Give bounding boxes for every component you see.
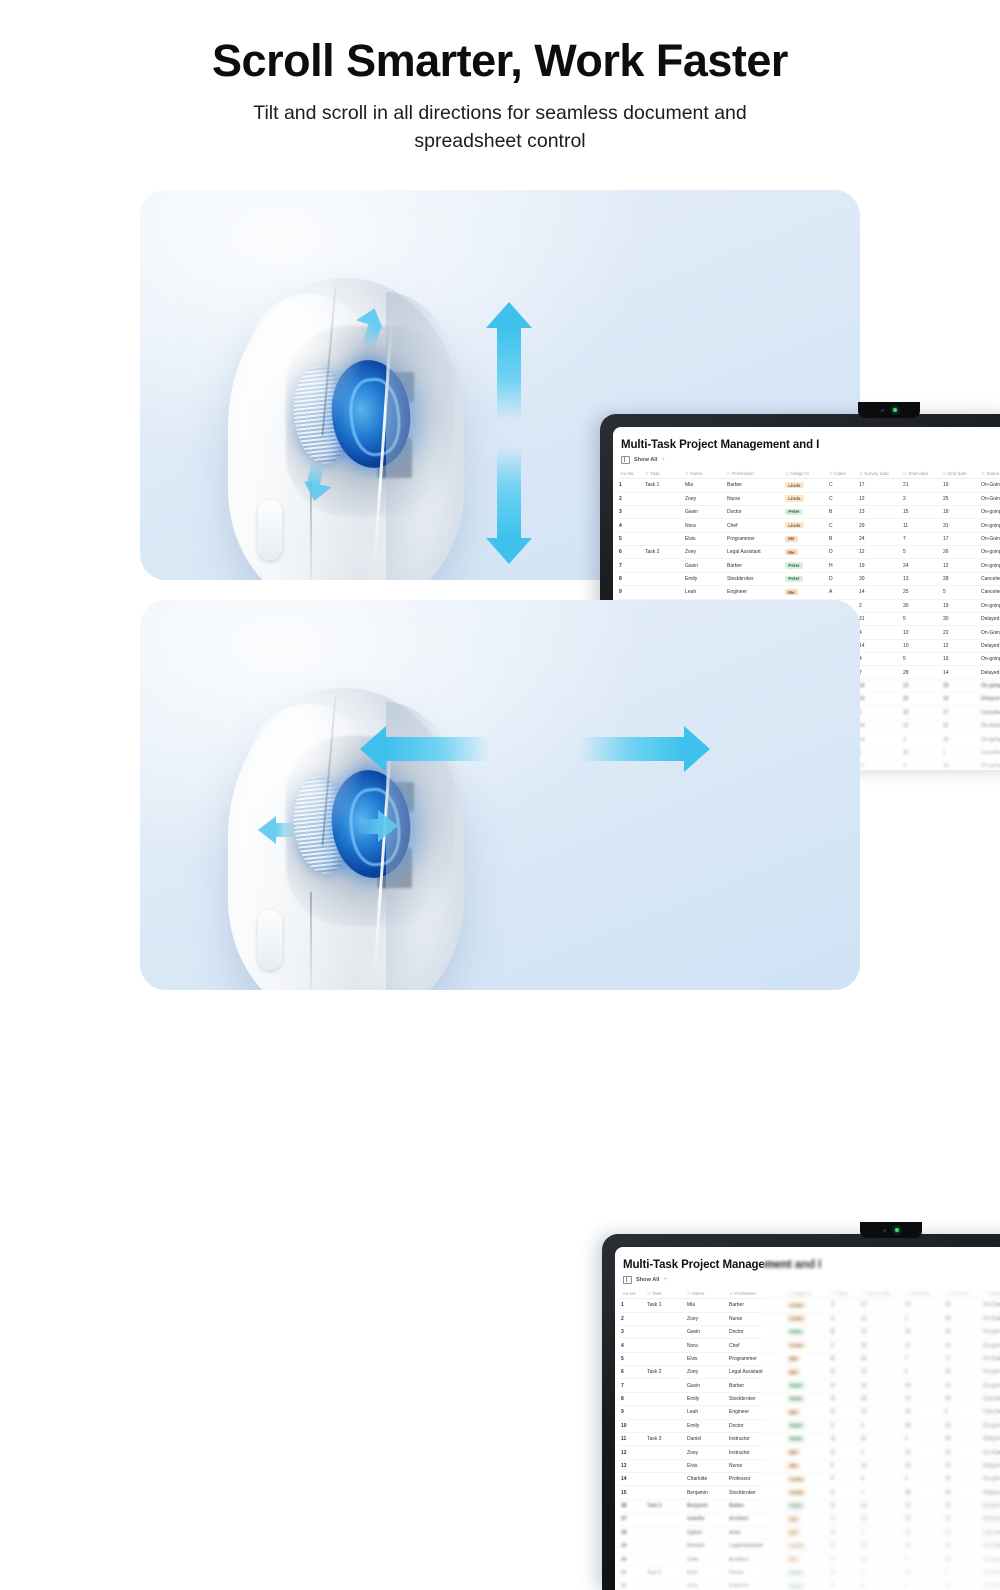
table-cell[interactable]: 12 xyxy=(859,1366,903,1379)
column-header[interactable]: ◎Assign to xyxy=(785,1288,829,1299)
table-cell[interactable]: Leah xyxy=(685,1406,727,1419)
table-cell[interactable] xyxy=(645,1325,685,1338)
add-view-button[interactable]: + xyxy=(663,1277,667,1283)
table-cell[interactable]: Delayed xyxy=(979,693,1000,706)
table-cell[interactable]: Canceled xyxy=(979,706,1000,719)
table-cell[interactable]: 31 xyxy=(943,1339,981,1352)
table-cell[interactable]: 17 xyxy=(619,1513,645,1526)
table-cell[interactable]: 13 xyxy=(857,505,901,518)
table-cell[interactable]: On-Going xyxy=(979,479,1000,492)
table-cell[interactable]: 14 xyxy=(859,1459,903,1472)
column-header[interactable]: ☷Class xyxy=(827,468,857,479)
table-cell[interactable]: 30 xyxy=(901,599,941,612)
table-cell[interactable]: 11 xyxy=(859,1580,903,1590)
table-cell[interactable]: On-going xyxy=(979,599,1000,612)
table-cell[interactable] xyxy=(645,1312,685,1325)
table-cell[interactable] xyxy=(645,1419,685,1432)
table-cell[interactable]: Delayed xyxy=(981,1513,1000,1526)
table-cell[interactable]: Peter xyxy=(785,1419,829,1432)
table-cell[interactable]: 30 xyxy=(903,1419,943,1432)
table-row[interactable]: 9LeahEngineerMeA14255Canceled24 xyxy=(619,1406,1000,1419)
table-cell[interactable]: 16 xyxy=(857,719,901,732)
table-cell[interactable]: 3 xyxy=(619,1325,645,1338)
table-cell[interactable]: 19 xyxy=(943,1419,981,1432)
table-cell[interactable]: 31 xyxy=(857,612,901,625)
table-cell[interactable]: 16 xyxy=(859,1499,903,1512)
table-cell[interactable]: 14 xyxy=(619,1473,645,1486)
column-header[interactable]: ☷Task xyxy=(643,468,683,479)
table-cell[interactable] xyxy=(645,1459,685,1472)
table-cell[interactable]: Linda xyxy=(785,1539,829,1552)
table-cell[interactable]: Peter xyxy=(785,1432,829,1445)
table-cell[interactable]: 8 xyxy=(619,1392,645,1405)
table-cell[interactable]: Architect xyxy=(727,1513,785,1526)
table-cell[interactable]: 12 xyxy=(901,719,941,732)
show-all-button[interactable]: Show All xyxy=(636,1277,659,1283)
table-cell[interactable]: 24 xyxy=(903,1379,943,1392)
table-cell[interactable]: Zoey xyxy=(685,1446,727,1459)
table-cell[interactable]: C xyxy=(827,492,857,505)
table-cell[interactable]: 28 xyxy=(903,1486,943,1499)
table-cell[interactable]: Me xyxy=(785,1406,829,1419)
table-cell[interactable]: 11 xyxy=(903,1339,943,1352)
column-header[interactable]: ☷Profession xyxy=(727,1288,785,1299)
table-cell[interactable]: 16 xyxy=(943,1513,981,1526)
table-cell[interactable]: 29 xyxy=(857,519,901,532)
table-cell[interactable]: 2 xyxy=(903,1312,943,1325)
table-cell[interactable]: On-going xyxy=(981,1499,1000,1512)
table-cell[interactable]: D xyxy=(829,1446,859,1459)
table-cell[interactable]: 5 xyxy=(903,1366,943,1379)
table-cell[interactable]: 10 xyxy=(619,1419,645,1432)
table-cell[interactable]: Zoey xyxy=(685,1366,727,1379)
table-cell[interactable]: Elvis xyxy=(685,1459,727,1472)
table-cell[interactable]: Me xyxy=(783,586,827,599)
table-cell[interactable]: 12 xyxy=(941,559,979,572)
table-cell[interactable]: On-going xyxy=(981,1325,1000,1338)
table-cell[interactable]: On-Going xyxy=(981,1539,1000,1552)
table-cell[interactable]: B xyxy=(827,532,857,545)
table-row[interactable]: 4NoraChefLindaC291131On-going9 xyxy=(619,1339,1000,1352)
table-cell[interactable]: 2 xyxy=(857,599,901,612)
table-cell[interactable]: 7 xyxy=(619,1379,645,1392)
table-cell[interactable]: D xyxy=(829,1392,859,1405)
table-cell[interactable]: B xyxy=(829,1352,859,1365)
table-cell[interactable]: On-going xyxy=(979,559,1000,572)
table-cell[interactable]: 12 xyxy=(857,546,901,559)
table-cell[interactable]: Nurse xyxy=(727,1459,785,1472)
table-cell[interactable] xyxy=(645,1513,685,1526)
table-cell[interactable]: Daniel xyxy=(685,1432,727,1445)
table-cell[interactable]: 12 xyxy=(903,1539,943,1552)
table-cell[interactable]: 6 xyxy=(619,1366,645,1379)
table-cell[interactable]: 4 xyxy=(857,626,901,639)
table-cell[interactable]: Zoey xyxy=(685,1580,727,1590)
table-cell[interactable]: 14 xyxy=(859,1406,903,1419)
table-cell[interactable]: Emily xyxy=(683,572,725,585)
table-cell[interactable]: Peter xyxy=(785,1325,829,1338)
table-cell[interactable]: 12 xyxy=(859,1312,903,1325)
table-cell[interactable]: D xyxy=(829,1566,859,1579)
table-cell[interactable]: On-Going xyxy=(981,1446,1000,1459)
table-cell[interactable]: 14 xyxy=(859,1553,903,1566)
table-cell[interactable]: 1 xyxy=(859,1526,903,1539)
table-cell[interactable]: Me xyxy=(785,1553,829,1566)
table-cell[interactable]: On-going xyxy=(979,760,1000,770)
table-cell[interactable]: Zoey xyxy=(683,546,725,559)
table-cell[interactable]: 25 xyxy=(903,1513,943,1526)
table-cell[interactable]: 14 xyxy=(943,1486,981,1499)
table-cell[interactable]: 20 xyxy=(619,1553,645,1566)
table-cell[interactable]: Nora xyxy=(683,519,725,532)
table-cell[interactable]: D xyxy=(827,572,857,585)
column-header[interactable]: ☷Name xyxy=(683,468,725,479)
table-cell[interactable]: Architect xyxy=(727,1553,785,1566)
table-cell[interactable]: 15 xyxy=(903,1325,943,1338)
table-cell[interactable] xyxy=(643,505,683,518)
table-cell[interactable]: Delayed xyxy=(981,1459,1000,1472)
table-cell[interactable]: 25 xyxy=(903,1566,943,1579)
table-cell[interactable]: On-Going xyxy=(981,1299,1000,1312)
table-row[interactable]: 5ElvisProgrammerMeB24717On-Going3 xyxy=(617,532,1000,545)
table-cell[interactable] xyxy=(645,1580,685,1590)
table-cell[interactable]: Engineer xyxy=(725,586,783,599)
table-cell[interactable]: 2 xyxy=(903,1553,943,1566)
table-cell[interactable]: A xyxy=(829,1406,859,1419)
table-cell[interactable]: 24 xyxy=(859,1352,903,1365)
table-cell[interactable] xyxy=(643,492,683,505)
table-cell[interactable]: Canceled xyxy=(979,572,1000,585)
table-cell[interactable]: On-going xyxy=(981,1379,1000,1392)
table-cell[interactable]: F xyxy=(829,1473,859,1486)
table-cell[interactable]: Delayed xyxy=(981,1486,1000,1499)
table-cell[interactable]: 14 xyxy=(943,1580,981,1590)
table-cell[interactable]: Me xyxy=(783,532,827,545)
table-cell[interactable]: Task 3 xyxy=(645,1432,685,1445)
table-cell[interactable]: Barber xyxy=(727,1499,785,1512)
table-row[interactable]: 8EmilyStockbrokerPeterD301328Canceled9 xyxy=(619,1392,1000,1405)
table-cell[interactable]: 16 xyxy=(941,693,979,706)
table-row[interactable]: 13ElvisNurseMeF141012Delayed10 xyxy=(619,1459,1000,1472)
table-cell[interactable] xyxy=(645,1553,685,1566)
table-cell[interactable]: 13 xyxy=(901,572,941,585)
table-cell[interactable]: 15 xyxy=(901,505,941,518)
table-cell[interactable]: Stockbroker xyxy=(727,1392,785,1405)
table-cell[interactable]: Linda xyxy=(785,1486,829,1499)
table-cell[interactable]: Peter xyxy=(785,1499,829,1512)
table-cell[interactable]: Linda xyxy=(785,1473,829,1486)
table-cell[interactable]: 17 xyxy=(941,532,979,545)
table-cell[interactable]: Me xyxy=(785,1366,829,1379)
column-header[interactable]: ☷Class xyxy=(829,1288,859,1299)
table-cell[interactable]: 14 xyxy=(941,760,979,770)
table-cell[interactable]: 15 xyxy=(943,1499,981,1512)
table-cell[interactable]: Leah xyxy=(683,586,725,599)
column-header[interactable]: ☷Start date xyxy=(901,468,941,479)
table-cell[interactable]: Canceled xyxy=(981,1392,1000,1405)
table-cell[interactable]: 16 xyxy=(619,1499,645,1512)
table-cell[interactable]: 4 xyxy=(619,1339,645,1352)
table-cell[interactable]: D xyxy=(829,1580,859,1590)
table-cell[interactable]: 14 xyxy=(857,639,901,652)
table-cell[interactable]: On-Going xyxy=(979,532,1000,545)
table-cell[interactable]: On-going xyxy=(981,1419,1000,1432)
table-cell[interactable]: 28 xyxy=(901,666,941,679)
table-cell[interactable]: 1 xyxy=(859,1566,903,1579)
table-cell[interactable]: 7 xyxy=(859,1486,903,1499)
table-cell[interactable]: A xyxy=(827,586,857,599)
table-cell[interactable]: On-going xyxy=(979,546,1000,559)
table-cell[interactable]: 17 xyxy=(857,479,901,492)
table-cell[interactable]: 21 xyxy=(903,1299,943,1312)
table-cell[interactable]: Actor xyxy=(727,1526,785,1539)
table-cell[interactable]: Benjamin xyxy=(685,1499,727,1512)
table-cell[interactable]: Canceled xyxy=(981,1406,1000,1419)
table-cell[interactable]: 15 xyxy=(943,1553,981,1566)
table-cell[interactable]: Delayed xyxy=(979,639,1000,652)
table-cell[interactable]: 26 xyxy=(941,546,979,559)
table-cell[interactable]: 30 xyxy=(857,572,901,585)
table-cell[interactable]: Charlotte xyxy=(685,1473,727,1486)
table-row[interactable]: 12ZoeyInstructorMeD41022On-Going15 xyxy=(619,1446,1000,1459)
table-cell[interactable]: 4 xyxy=(901,760,941,770)
table-row[interactable]: 3GavinDoctorPeterB131518On-going31 xyxy=(619,1325,1000,1338)
column-header[interactable]: ☷Start date xyxy=(903,1288,943,1299)
table-cell[interactable]: 7 xyxy=(617,559,643,572)
grid-view-icon[interactable] xyxy=(621,456,630,464)
column-header[interactable]: ☷Task xyxy=(645,1288,685,1299)
table-row[interactable]: 1Task 1MiaBarberLindaC172119On-Going10 xyxy=(617,479,1000,492)
table-cell[interactable]: 22 xyxy=(943,1539,981,1552)
table-cell[interactable]: Gavin xyxy=(685,1325,727,1338)
table-row[interactable]: 4NoraChefLindaC291131On-going9 xyxy=(617,519,1000,532)
table-cell[interactable]: 19 xyxy=(941,479,979,492)
table-cell[interactable]: 24 xyxy=(857,532,901,545)
table-cell[interactable]: Nurse xyxy=(727,1312,785,1325)
table-cell[interactable]: 19 xyxy=(857,559,901,572)
table-cell[interactable]: 5 xyxy=(903,1473,943,1486)
table-cell[interactable]: Mia xyxy=(683,479,725,492)
table-cell[interactable]: 18 xyxy=(941,505,979,518)
table-cell[interactable]: 1 xyxy=(619,1299,645,1312)
table-cell[interactable]: G xyxy=(829,1432,859,1445)
table-cell[interactable]: Me xyxy=(783,546,827,559)
table-cell[interactable]: E xyxy=(829,1539,859,1552)
table-row[interactable]: 5ElvisProgrammerMeB24717On-Going3 xyxy=(619,1352,1000,1365)
table-cell[interactable]: Canceled xyxy=(981,1526,1000,1539)
table-cell[interactable] xyxy=(645,1379,685,1392)
table-cell[interactable]: 4 xyxy=(859,1473,903,1486)
table-cell[interactable]: 30 xyxy=(941,612,979,625)
table-cell[interactable]: 22 xyxy=(943,1446,981,1459)
table-cell[interactable]: 5 xyxy=(903,1432,943,1445)
table-cell[interactable]: Egbert xyxy=(685,1526,727,1539)
table-cell[interactable]: 26 xyxy=(943,1366,981,1379)
table-cell[interactable]: Doctor xyxy=(727,1419,785,1432)
column-header[interactable]: ◎Assign to xyxy=(783,468,827,479)
table-cell[interactable]: 17 xyxy=(943,1352,981,1365)
table-cell[interactable]: Canceled xyxy=(979,746,1000,759)
column-header[interactable]: Au No. xyxy=(619,1288,645,1299)
table-cell[interactable]: Linda xyxy=(783,519,827,532)
column-header[interactable]: ☷Status xyxy=(981,1288,1000,1299)
table-row[interactable]: 3GavinDoctorPeterB131518On-going31 xyxy=(617,505,1000,518)
column-header[interactable]: ☷End date xyxy=(943,1288,981,1299)
table-cell[interactable]: B xyxy=(829,1325,859,1338)
table-row[interactable]: 18EgbertActorMeG12227Canceled6 xyxy=(619,1526,1000,1539)
table-cell[interactable]: Barber xyxy=(727,1299,785,1312)
table-cell[interactable]: 21 xyxy=(619,1566,645,1579)
table-cell[interactable]: 30 xyxy=(943,1432,981,1445)
table-cell[interactable]: D xyxy=(827,546,857,559)
table-cell[interactable]: On-going xyxy=(979,733,1000,746)
table-cell[interactable]: 31 xyxy=(859,1432,903,1445)
table-row[interactable]: 7GavinBarberPeterH192412On-going9 xyxy=(619,1379,1000,1392)
table-cell[interactable]: 12 xyxy=(943,1379,981,1392)
table-cell[interactable]: Peter xyxy=(783,572,827,585)
table-cell[interactable]: 1 xyxy=(617,479,643,492)
table-cell[interactable]: 4 xyxy=(617,519,643,532)
table-cell[interactable]: 18 xyxy=(943,1325,981,1338)
table-cell[interactable]: 25 xyxy=(901,586,941,599)
table-cell[interactable]: 2 xyxy=(901,733,941,746)
table-cell[interactable]: 1 xyxy=(943,1566,981,1579)
table-cell[interactable]: 10 xyxy=(903,1446,943,1459)
table-cell[interactable]: 19 xyxy=(859,1379,903,1392)
table-cell[interactable]: Zoey xyxy=(685,1312,727,1325)
grid-view-icon[interactable] xyxy=(623,1276,632,1284)
table-row[interactable]: 6Task 2ZoeyLegal AssistantMeD12526On-goi… xyxy=(619,1366,1000,1379)
table-cell[interactable]: 22 xyxy=(941,719,979,732)
table-cell[interactable]: 12 xyxy=(857,492,901,505)
table-cell[interactable]: 5 xyxy=(617,532,643,545)
table-cell[interactable]: Nora xyxy=(685,1339,727,1352)
table-cell[interactable] xyxy=(643,559,683,572)
table-cell[interactable]: Linda xyxy=(785,1339,829,1352)
table-cell[interactable]: Me xyxy=(785,1446,829,1459)
table-cell[interactable]: 30 xyxy=(859,1392,903,1405)
table-cell[interactable]: Elvis xyxy=(685,1352,727,1365)
table-cell[interactable]: 28 xyxy=(941,572,979,585)
table-cell[interactable]: 3 xyxy=(617,505,643,518)
table-cell[interactable]: 11 xyxy=(901,519,941,532)
table-cell[interactable]: H xyxy=(829,1379,859,1392)
table-cell[interactable]: 18 xyxy=(619,1526,645,1539)
table-cell[interactable]: Delayed xyxy=(979,612,1000,625)
table-row[interactable]: 1Task 1MiaBarberLindaC172119On-Going10 xyxy=(619,1299,1000,1312)
table-cell[interactable]: 13 xyxy=(859,1325,903,1338)
table-cell[interactable]: Doctor xyxy=(727,1325,785,1338)
table-row[interactable]: 15BenjaminStockbrokerLindaC72814Delayed1… xyxy=(619,1486,1000,1499)
table-cell[interactable]: 5 xyxy=(941,586,979,599)
table-cell[interactable]: Me xyxy=(785,1513,829,1526)
table-cell[interactable]: Canceled xyxy=(981,1566,1000,1579)
table-cell[interactable]: 7 xyxy=(903,1352,943,1365)
table-cell[interactable] xyxy=(643,519,683,532)
table-cell[interactable]: Isabella xyxy=(685,1513,727,1526)
table-cell[interactable]: 7 xyxy=(901,532,941,545)
table-cell[interactable]: Zoey xyxy=(683,492,725,505)
table-cell[interactable]: 24 xyxy=(857,693,901,706)
table-cell[interactable]: 24 xyxy=(901,559,941,572)
table-cell[interactable]: 13 xyxy=(903,1392,943,1405)
table-cell[interactable]: On-Going xyxy=(981,1352,1000,1365)
table-row[interactable]: 7GavinBarberPeterH192412On-going9 xyxy=(617,559,1000,572)
table-cell[interactable]: On-Going xyxy=(979,626,1000,639)
table-cell[interactable]: Gavin xyxy=(683,505,725,518)
table-cell[interactable]: Me xyxy=(785,1459,829,1472)
table-cell[interactable]: 15 xyxy=(941,733,979,746)
table-cell[interactable]: On-going xyxy=(981,1339,1000,1352)
column-header[interactable]: ☷Survey date xyxy=(859,1288,903,1299)
table-cell[interactable]: Task 2 xyxy=(643,546,683,559)
table-cell[interactable]: 12 xyxy=(943,1459,981,1472)
table-cell[interactable] xyxy=(645,1352,685,1365)
table-cell[interactable]: F xyxy=(829,1553,859,1566)
table-cell[interactable]: 19 xyxy=(941,653,979,666)
table-cell[interactable]: On-going xyxy=(979,679,1000,692)
table-cell[interactable]: B xyxy=(829,1499,859,1512)
table-row[interactable]: 11Task 3DanielInstructorPeterG31530Delay… xyxy=(619,1432,1000,1445)
table-cell[interactable]: C xyxy=(829,1486,859,1499)
table-cell[interactable]: C xyxy=(827,479,857,492)
table-cell[interactable]: 4 xyxy=(903,1580,943,1590)
table-cell[interactable]: 10 xyxy=(903,1459,943,1472)
table-row[interactable]: 21Task 5ElvisDoctorPeterD1251Canceled17 xyxy=(619,1566,1000,1579)
table-cell[interactable]: Emily xyxy=(685,1392,727,1405)
table-cell[interactable]: Engineer xyxy=(727,1580,785,1590)
table-cell[interactable]: 19 xyxy=(943,1473,981,1486)
table-cell[interactable]: Chef xyxy=(727,1339,785,1352)
table-cell[interactable]: 4 xyxy=(857,653,901,666)
table-cell[interactable]: Legal Assistant xyxy=(727,1366,785,1379)
table-cell[interactable] xyxy=(645,1406,685,1419)
table-cell[interactable]: 1 xyxy=(857,706,901,719)
table-cell[interactable]: Mia xyxy=(685,1299,727,1312)
table-cell[interactable]: 16 xyxy=(857,679,901,692)
table-cell[interactable]: 17 xyxy=(859,1299,903,1312)
table-cell[interactable]: 5 xyxy=(619,1352,645,1365)
table-cell[interactable]: 10 xyxy=(901,626,941,639)
table-cell[interactable]: 2 xyxy=(617,492,643,505)
table-cell[interactable]: 5 xyxy=(901,546,941,559)
table-cell[interactable]: Professor xyxy=(727,1473,785,1486)
table-cell[interactable]: 8 xyxy=(617,572,643,585)
table-cell[interactable]: On-going xyxy=(981,1473,1000,1486)
table-cell[interactable]: Programmer xyxy=(727,1352,785,1365)
table-cell[interactable]: 22 xyxy=(901,706,941,719)
show-all-button[interactable]: Show All xyxy=(634,457,657,463)
table-cell[interactable]: Me xyxy=(785,1352,829,1365)
table-cell[interactable]: 22 xyxy=(619,1580,645,1590)
table-cell[interactable]: On-Going xyxy=(979,492,1000,505)
table-cell[interactable]: Peter xyxy=(783,505,827,518)
table-cell[interactable] xyxy=(645,1539,685,1552)
table-row[interactable]: 16Task 4BenjaminBarberPeterB161215On-goi… xyxy=(619,1499,1000,1512)
table-cell[interactable]: On-Going xyxy=(979,719,1000,732)
table-cell[interactable]: 7 xyxy=(857,666,901,679)
table-cell[interactable]: 22 xyxy=(941,626,979,639)
table-cell[interactable]: Benjamin xyxy=(685,1486,727,1499)
table-cell[interactable] xyxy=(643,572,683,585)
table-cell[interactable]: Canceled xyxy=(979,586,1000,599)
table-cell[interactable]: Richard xyxy=(685,1539,727,1552)
table-cell[interactable]: Nurse xyxy=(725,492,783,505)
table-cell[interactable]: On-going xyxy=(979,519,1000,532)
table-cell[interactable]: 25 xyxy=(901,693,941,706)
column-header[interactable]: ☷Name xyxy=(685,1288,727,1299)
table-cell[interactable]: 2 xyxy=(901,492,941,505)
